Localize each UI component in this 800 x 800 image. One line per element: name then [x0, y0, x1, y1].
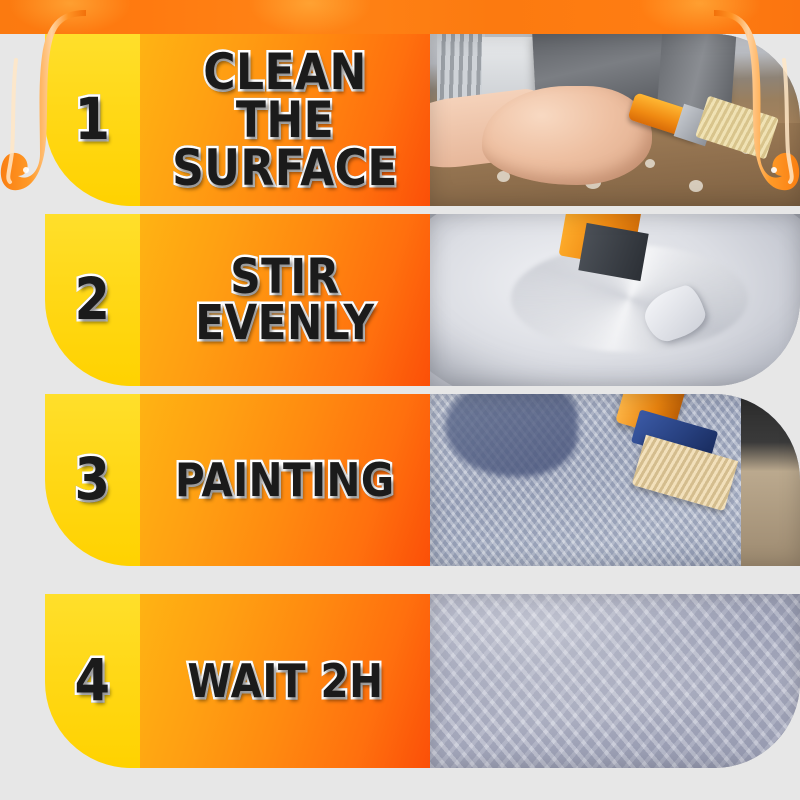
step-1-title-panel: CLEAN THE SURFACE — [140, 34, 430, 206]
step-3-title-panel: PAINTING — [140, 394, 430, 566]
step-3-number: 3 — [75, 452, 111, 508]
step-row-4[interactable]: 4 WAIT 2H — [45, 594, 800, 768]
photo-wait-2h — [430, 594, 800, 768]
photo-clean-surface — [430, 34, 800, 206]
step-3-title: PAINTING — [175, 458, 395, 502]
infographic-root: 1 CLEAN THE SURFACE — [0, 0, 800, 800]
step-4-title-panel: WAIT 2H — [140, 594, 430, 768]
step-1-number: 1 — [75, 92, 111, 148]
photo-painting — [430, 394, 800, 566]
step-1-title: CLEAN THE SURFACE — [164, 48, 405, 192]
paint-banner — [0, 0, 800, 34]
banner-glow-right — [640, 0, 760, 34]
step-2-title-panel: STIR EVENLY — [140, 214, 430, 386]
step-4-number-panel: 4 — [45, 594, 140, 768]
step-3-number-panel: 3 — [45, 394, 140, 566]
step-2-title: STIR EVENLY — [195, 254, 374, 346]
banner-glow-left — [10, 0, 130, 34]
photo-stir-evenly — [430, 214, 800, 386]
step-4-number: 4 — [75, 653, 111, 709]
step-4-title: WAIT 2H — [187, 659, 383, 703]
step-2-number: 2 — [75, 272, 111, 328]
banner-glow-center — [250, 0, 370, 34]
step-row-1[interactable]: 1 CLEAN THE SURFACE — [45, 34, 800, 206]
step-2-number-panel: 2 — [45, 214, 140, 386]
step-row-3[interactable]: 3 PAINTING — [45, 394, 800, 566]
step-1-number-panel: 1 — [45, 34, 140, 206]
step-row-2[interactable]: 2 STIR EVENLY — [45, 214, 800, 386]
